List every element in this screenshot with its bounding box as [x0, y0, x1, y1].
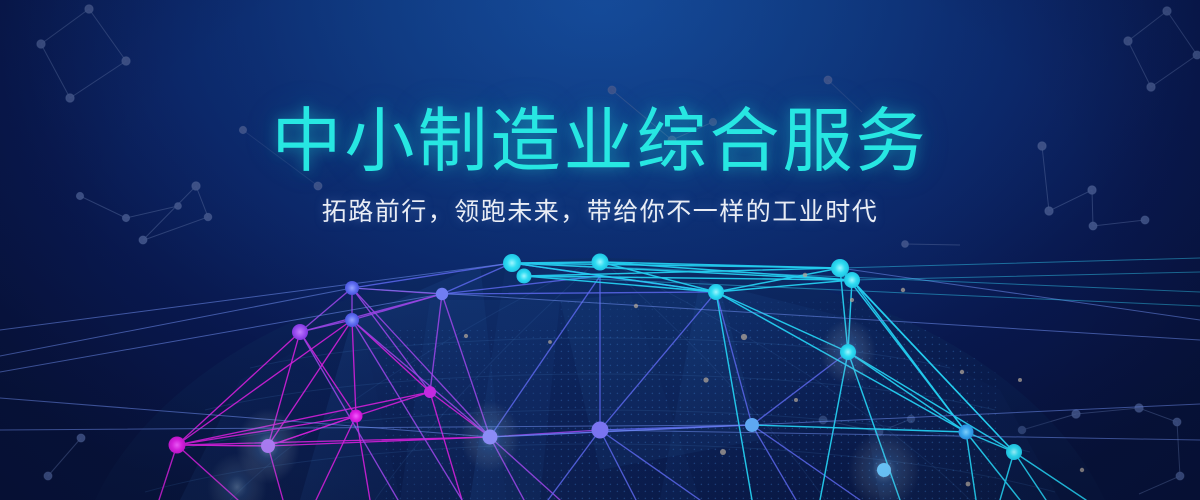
hero-banner: 中小制造业综合服务 拓路前行，领跑未来，带给你不一样的工业时代 — [0, 0, 1200, 500]
network-dome-graphic — [0, 0, 1200, 500]
